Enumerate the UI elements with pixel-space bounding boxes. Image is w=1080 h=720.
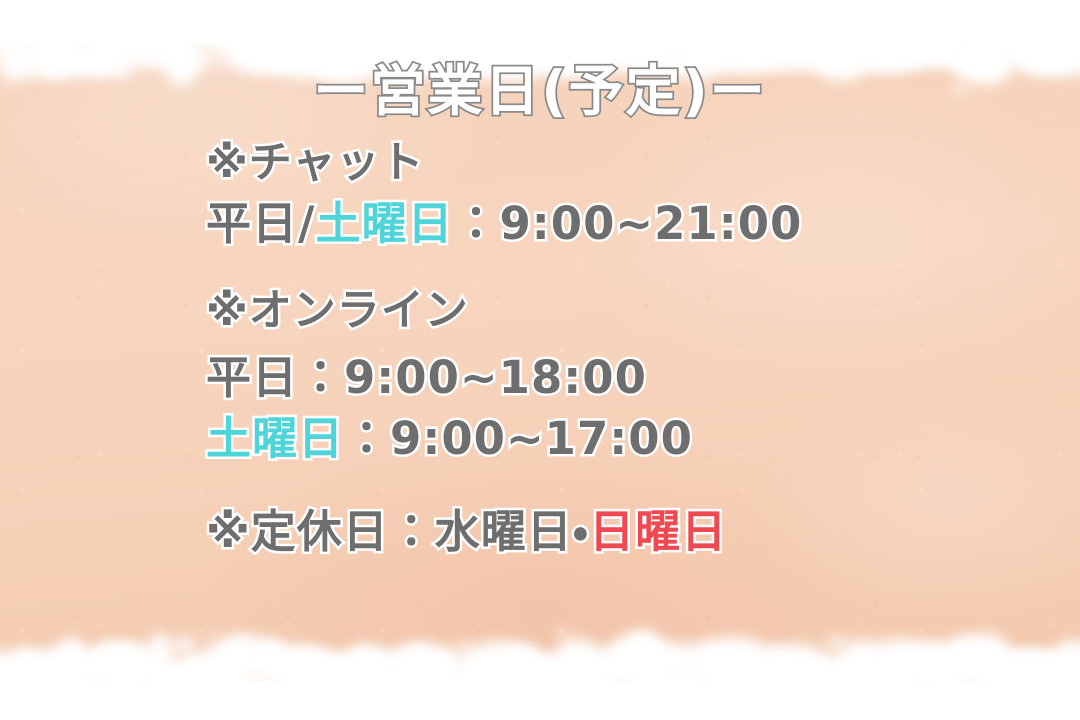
spacer bbox=[206, 246, 1066, 290]
page-title: ー営業日(予定)ー bbox=[0, 64, 1080, 119]
schedule-row-online-weekday: 平日：9:00~18:00 bbox=[206, 355, 1066, 400]
row-part-closed-label: ※定休日：水曜日・ bbox=[206, 505, 589, 558]
row-part-sunday: 日曜日 bbox=[589, 505, 727, 558]
spacer bbox=[206, 461, 1066, 509]
row-part-saturday: 土曜日 bbox=[206, 412, 344, 465]
row-part-hours: ：9:00~21:00 bbox=[453, 197, 802, 250]
poster-content: ー営業日(予定)ー ※チャット 平日/土曜日：9:00~21:00 ※オンライン… bbox=[0, 0, 1080, 720]
section-heading-chat: ※チャット bbox=[206, 142, 1066, 185]
schedule-row-closed-days: ※定休日：水曜日・日曜日 bbox=[206, 509, 1066, 554]
row-part-saturday: 土曜日 bbox=[315, 197, 453, 250]
row-part: 平日/ bbox=[206, 197, 315, 250]
schedule-row-online-saturday: 土曜日：9:00~17:00 bbox=[206, 416, 1066, 461]
row-part-hours: ：9:00~17:00 bbox=[344, 412, 693, 465]
section-heading-online: ※オンライン bbox=[206, 290, 1066, 333]
row-part: 平日：9:00~18:00 bbox=[206, 351, 647, 404]
schedule-row-chat-weekday-saturday: 平日/土曜日：9:00~21:00 bbox=[206, 201, 1066, 246]
schedule-body: ※チャット 平日/土曜日：9:00~21:00 ※オンライン 平日：9:00~1… bbox=[206, 142, 1066, 554]
poster-canvas: ー営業日(予定)ー ※チャット 平日/土曜日：9:00~21:00 ※オンライン… bbox=[0, 0, 1080, 720]
